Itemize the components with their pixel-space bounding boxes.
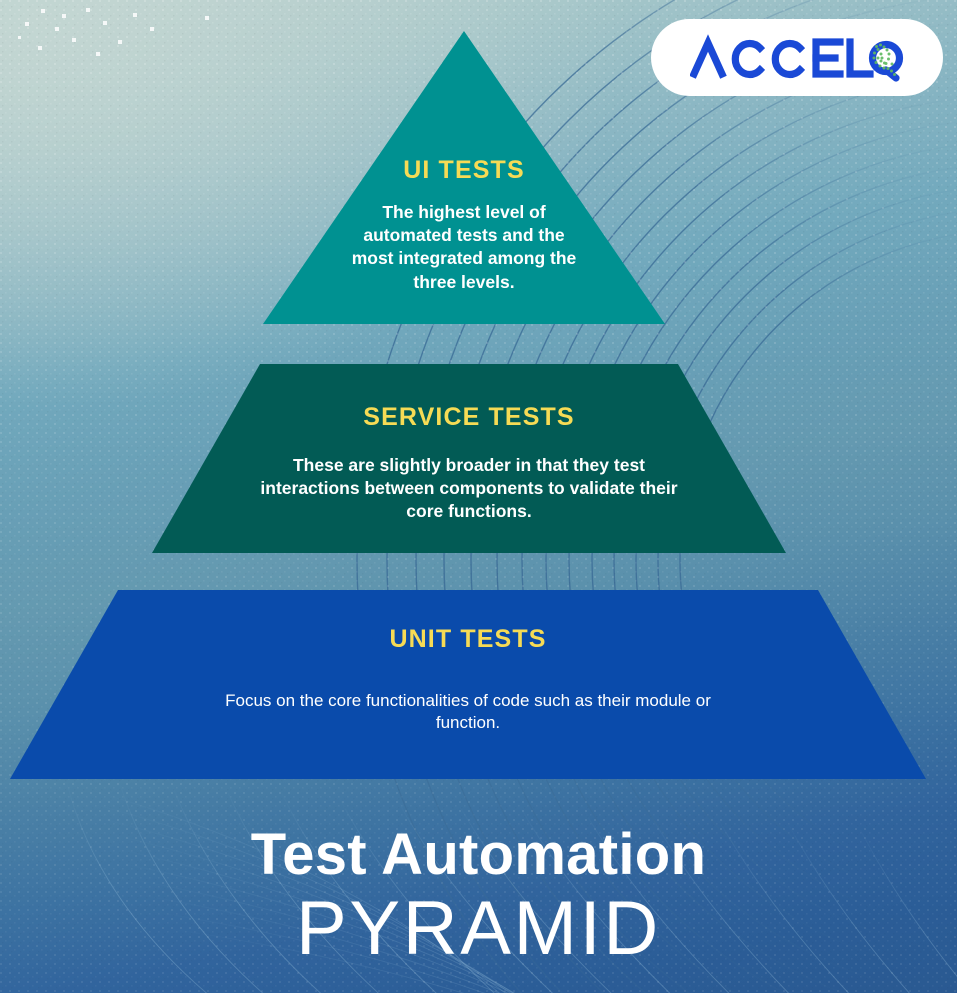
footer-title-line-1: Test Automation: [0, 826, 957, 884]
pyramid-tier-unit-tests[interactable]: UNIT TESTS Focus on the core functionali…: [10, 590, 926, 779]
unit-tier-title: UNIT TESTS: [10, 626, 926, 654]
service-tier-description: These are slightly broader in that they …: [249, 432, 689, 524]
pyramid-tier-ui-tests[interactable]: UI TESTS The highest level of automated …: [263, 31, 665, 324]
unit-tier-description: Focus on the core functionalities of cod…: [198, 654, 738, 736]
infographic-poster: UI TESTS The highest level of automated …: [0, 0, 957, 993]
accelq-logo-icon: [690, 34, 904, 82]
footer-title-line-2: PYRAMID: [0, 884, 957, 970]
poster-footer-title: Test Automation PYRAMID: [0, 826, 957, 970]
ui-tier-description: The highest level of automated tests and…: [345, 185, 583, 295]
ui-tier-title: UI TESTS: [263, 157, 665, 185]
pyramid-tier-service-tests[interactable]: SERVICE TESTS These are slightly broader…: [152, 364, 786, 553]
service-tier-title: SERVICE TESTS: [152, 404, 786, 432]
accelq-logo-badge[interactable]: [651, 19, 943, 96]
accelq-q-letter: [873, 43, 900, 78]
